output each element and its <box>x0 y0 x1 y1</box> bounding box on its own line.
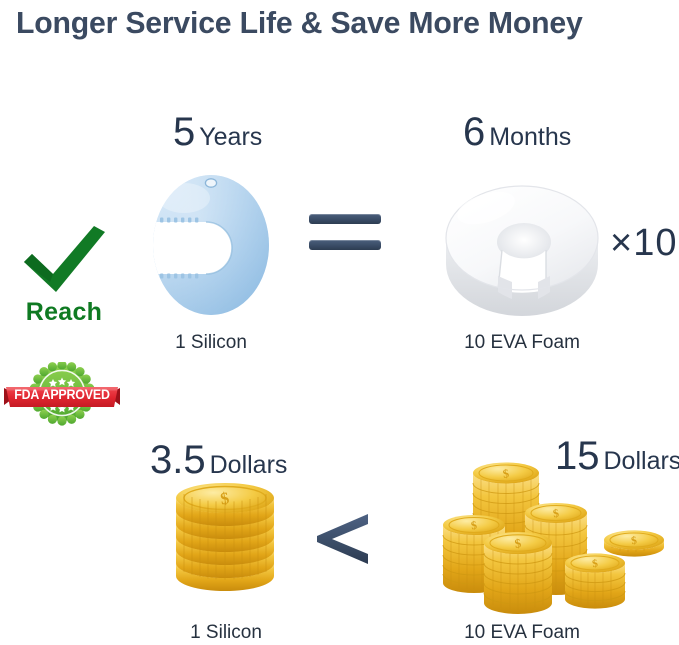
foam-lifespan-value: 6 <box>463 112 485 152</box>
foam-product-label-cost: 10 EVA Foam <box>442 622 602 644</box>
silicone-product-label-life: 1 Silicon <box>151 332 271 354</box>
coin-stacks-group-icon: $ $ <box>440 455 675 615</box>
fda-approved-seal-icon <box>2 362 122 428</box>
silicone-lifespan-value: 5 <box>173 112 195 152</box>
equals-operator-icon <box>309 214 381 262</box>
page-title: Longer Service Life & Save More Money <box>16 0 660 46</box>
foam-product-label-life: 10 EVA Foam <box>442 332 602 354</box>
less-than-operator-icon <box>312 508 374 570</box>
foam-quantity-multiplier: ×10 <box>610 222 677 265</box>
coin-stack-icon: $ <box>170 480 280 605</box>
green-checkmark-icon <box>6 222 122 298</box>
silicone-price-caption: 3.5 Dollars <box>150 440 287 480</box>
silicone-lifespan-unit: Years <box>199 125 262 150</box>
silicone-price-unit: Dollars <box>210 453 288 478</box>
eva-foam-door-stopper-icon <box>438 172 606 318</box>
silicone-price-value: 3.5 <box>150 440 206 480</box>
reach-label: Reach <box>6 298 122 327</box>
foam-lifespan-caption: 6 Months <box>463 112 571 152</box>
silicone-product-label-cost: 1 Silicon <box>151 622 301 644</box>
reach-certification: Reach <box>6 222 122 334</box>
silicone-door-stopper-icon <box>150 170 272 316</box>
fda-certification: FDA APPROVED <box>2 362 122 428</box>
foam-lifespan-unit: Months <box>489 125 571 150</box>
silicone-lifespan-caption: 5 Years <box>173 112 262 152</box>
